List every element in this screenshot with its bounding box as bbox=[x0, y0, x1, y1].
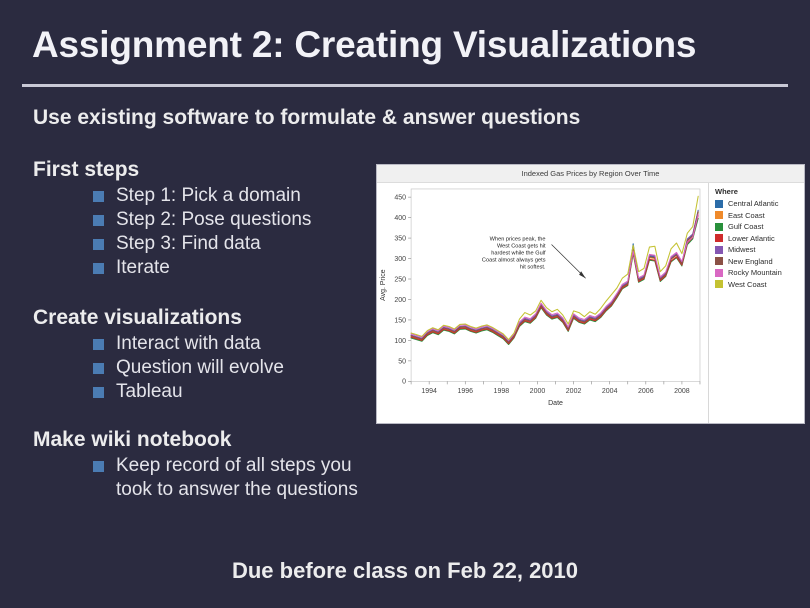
bullet-column: First steps Step 1: Pick a domain Step 2… bbox=[33, 156, 373, 504]
line-chart-svg: 0501001502002503003504004501994199619982… bbox=[377, 183, 708, 423]
chart-panel: Indexed Gas Prices by Region Over Time 0… bbox=[376, 164, 805, 424]
svg-text:150: 150 bbox=[394, 317, 406, 324]
section-spacer bbox=[33, 406, 373, 426]
svg-text:2006: 2006 bbox=[638, 388, 654, 395]
list-item: Question will evolve bbox=[93, 356, 373, 380]
list-item: Interact with data bbox=[93, 332, 373, 356]
legend-item[interactable]: New England bbox=[715, 257, 800, 266]
legend-item[interactable]: East Coast bbox=[715, 211, 800, 220]
legend-swatch-icon bbox=[715, 223, 723, 231]
legend-label: Lower Atlantic bbox=[728, 234, 775, 243]
legend-item[interactable]: Central Atlantic bbox=[715, 199, 800, 208]
legend-title: Where bbox=[715, 187, 800, 196]
legend-swatch-icon bbox=[715, 246, 723, 254]
legend-item[interactable]: West Coast bbox=[715, 280, 800, 289]
svg-text:250: 250 bbox=[394, 276, 406, 283]
svg-text:0: 0 bbox=[402, 379, 406, 386]
list-item-label: Step 2: Pose questions bbox=[116, 208, 311, 232]
legend-item[interactable]: Rocky Mountain bbox=[715, 268, 800, 277]
svg-text:300: 300 bbox=[394, 256, 406, 263]
list-item-label: Iterate bbox=[116, 256, 170, 280]
chart-body: 0501001502002503003504004501994199619982… bbox=[377, 183, 804, 423]
legend-swatch-icon bbox=[715, 234, 723, 242]
section-items: Step 1: Pick a domain Step 2: Pose quest… bbox=[33, 184, 373, 280]
bullet-square-icon bbox=[93, 339, 104, 350]
section-create-visualizations: Create visualizations Interact with data… bbox=[33, 304, 373, 404]
legend-swatch-icon bbox=[715, 200, 723, 208]
legend-label: East Coast bbox=[728, 211, 765, 220]
legend-swatch-icon bbox=[715, 257, 723, 265]
svg-text:350: 350 bbox=[394, 235, 406, 242]
svg-text:400: 400 bbox=[394, 215, 406, 222]
legend-item[interactable]: Midwest bbox=[715, 245, 800, 254]
svg-text:1998: 1998 bbox=[494, 388, 510, 395]
svg-text:2000: 2000 bbox=[530, 388, 546, 395]
list-item-label: Step 1: Pick a domain bbox=[116, 184, 301, 208]
legend-swatch-icon bbox=[715, 269, 723, 277]
list-item: Iterate bbox=[93, 256, 373, 280]
svg-text:1994: 1994 bbox=[421, 388, 437, 395]
svg-text:Avg. Price: Avg. Price bbox=[380, 269, 387, 301]
svg-text:2004: 2004 bbox=[602, 388, 618, 395]
title-divider bbox=[22, 84, 788, 87]
list-item-label: Question will evolve bbox=[116, 356, 284, 380]
legend-item[interactable]: Lower Atlantic bbox=[715, 234, 800, 243]
svg-text:100: 100 bbox=[394, 338, 406, 345]
svg-text:hit softest.: hit softest. bbox=[520, 264, 546, 270]
list-item: Keep record of all steps you took to ans… bbox=[93, 454, 373, 502]
svg-text:2002: 2002 bbox=[566, 388, 582, 395]
svg-text:West Coast gets hit: West Coast gets hit bbox=[497, 243, 546, 249]
slide-root: Assignment 2: Creating Visualizations Us… bbox=[0, 0, 810, 608]
section-spacer bbox=[33, 282, 373, 304]
list-item: Tableau bbox=[93, 380, 373, 404]
due-date-text: Due before class on Feb 22, 2010 bbox=[0, 558, 810, 584]
chart-legend: Where Central AtlanticEast CoastGulf Coa… bbox=[708, 183, 804, 423]
legend-label: Gulf Coast bbox=[728, 222, 763, 231]
legend-label: New England bbox=[728, 257, 773, 266]
svg-text:50: 50 bbox=[398, 358, 406, 365]
svg-text:450: 450 bbox=[394, 195, 406, 202]
legend-label: Rocky Mountain bbox=[728, 268, 782, 277]
svg-text:200: 200 bbox=[394, 297, 406, 304]
plot-area: 0501001502002503003504004501994199619982… bbox=[377, 183, 708, 423]
bullet-square-icon bbox=[93, 239, 104, 250]
section-items: Interact with data Question will evolve … bbox=[33, 332, 373, 404]
legend-label: Central Atlantic bbox=[728, 199, 778, 208]
section-items: Keep record of all steps you took to ans… bbox=[33, 454, 373, 502]
legend-swatch-icon bbox=[715, 211, 723, 219]
legend-rows: Central AtlanticEast CoastGulf CoastLowe… bbox=[715, 199, 800, 289]
svg-text:Date: Date bbox=[548, 400, 563, 407]
list-item: Step 2: Pose questions bbox=[93, 208, 373, 232]
section-heading: First steps bbox=[33, 156, 373, 183]
list-item: Step 1: Pick a domain bbox=[93, 184, 373, 208]
list-item: Step 3: Find data bbox=[93, 232, 373, 256]
list-item-label: Keep record of all steps you took to ans… bbox=[116, 454, 373, 502]
svg-text:1996: 1996 bbox=[457, 388, 473, 395]
svg-text:hardest while the Gulf: hardest while the Gulf bbox=[491, 250, 546, 256]
section-heading: Make wiki notebook bbox=[33, 426, 373, 453]
bullet-square-icon bbox=[93, 461, 104, 472]
bullet-square-icon bbox=[93, 191, 104, 202]
svg-text:Coast almost always gets: Coast almost always gets bbox=[482, 257, 546, 263]
legend-label: West Coast bbox=[728, 280, 767, 289]
legend-label: Midwest bbox=[728, 245, 756, 254]
bullet-square-icon bbox=[93, 263, 104, 274]
section-heading: Create visualizations bbox=[33, 304, 373, 331]
section-first-steps: First steps Step 1: Pick a domain Step 2… bbox=[33, 156, 373, 280]
bullet-square-icon bbox=[93, 363, 104, 374]
bullet-square-icon bbox=[93, 215, 104, 226]
list-item-label: Interact with data bbox=[116, 332, 261, 356]
section-make-wiki-notebook: Make wiki notebook Keep record of all st… bbox=[33, 426, 373, 502]
list-item-label: Step 3: Find data bbox=[116, 232, 261, 256]
list-item-label: Tableau bbox=[116, 380, 183, 404]
svg-text:2008: 2008 bbox=[674, 388, 690, 395]
page-title: Assignment 2: Creating Visualizations bbox=[32, 24, 696, 66]
bullet-square-icon bbox=[93, 387, 104, 398]
legend-swatch-icon bbox=[715, 280, 723, 288]
slide-subtitle: Use existing software to formulate & ans… bbox=[33, 106, 580, 130]
legend-item[interactable]: Gulf Coast bbox=[715, 222, 800, 231]
chart-title: Indexed Gas Prices by Region Over Time bbox=[377, 165, 804, 183]
svg-text:When prices peak, the: When prices peak, the bbox=[490, 237, 546, 243]
